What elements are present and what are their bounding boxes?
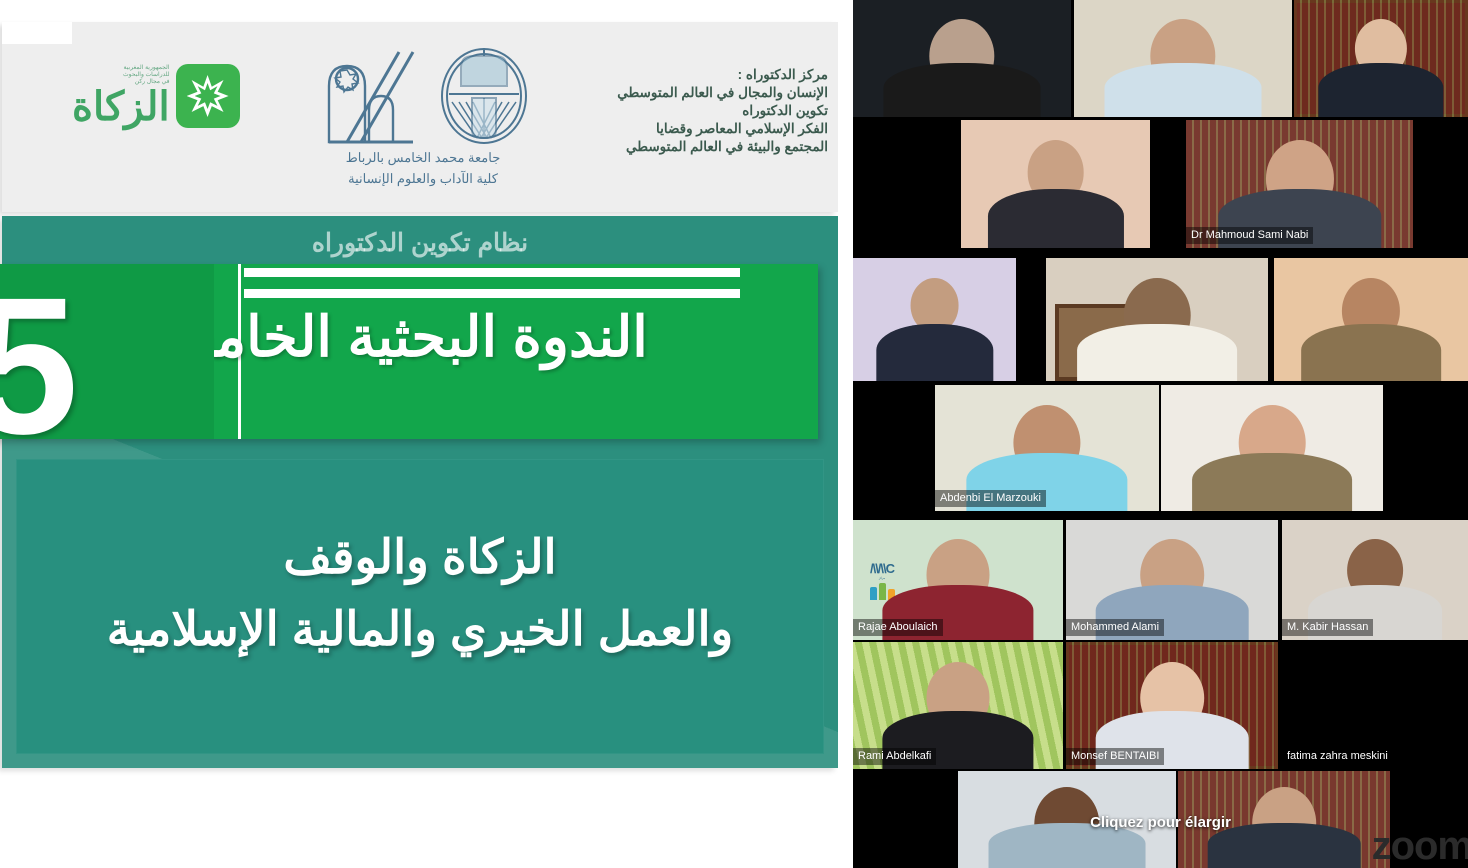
tile-participant-18[interactable]	[1178, 771, 1390, 868]
tile-participant-14[interactable]: Rami Abdelkafi	[853, 642, 1063, 769]
doctorate-info-line-2: الإنسان والمجال في العالم المتوسطي	[583, 84, 828, 102]
zakat-micro-line-1: الجمهورية المغربية	[72, 65, 170, 72]
participant-nameplate: Rami Abdelkafi	[853, 748, 936, 765]
presentation-slide: الجمهورية المغربية للدراسات والبحوث في م…	[0, 4, 838, 864]
participant-video-feed	[1074, 0, 1292, 117]
tile-participant-9[interactable]: Abdenbi El Marzouki	[935, 385, 1159, 511]
participant-video-feed	[961, 120, 1150, 248]
doctorate-info-line-1: مركز الدكتوراه :	[583, 66, 828, 84]
participant-video-feed	[1161, 385, 1383, 511]
zakat-logo: الجمهورية المغربية للدراسات والبحوث في م…	[72, 64, 240, 128]
band-stripe-bottom	[244, 289, 740, 298]
university-logo: جامعة محمد الخامس بالرباط كلية الآداب وا…	[298, 46, 548, 188]
participant-nameplate: M. Kabir Hassan	[1282, 619, 1373, 636]
zakat-micro-line-2: للدراسات والبحوث	[72, 72, 170, 79]
doctorate-info-line-5: المجتمع والبيئة في العالم المتوسطي	[583, 138, 828, 156]
doctorate-info-line-3: تكوين الدكتوراه	[583, 102, 828, 120]
participant-nameplate: Mohammed Alami	[1066, 619, 1164, 636]
zakat-wordmark: الزكاة	[72, 86, 170, 128]
gallery-row-6: Rami AbdelkafiMonsef BENTAIBIfatima zahr…	[853, 642, 1468, 769]
participant-video-feed	[1178, 771, 1390, 868]
doctorate-center-info: مركز الدكتوراه : الإنسان والمجال في العا…	[583, 66, 828, 156]
doctorate-info-line-4: الفكر الإسلامي المعاصر وقضايا	[583, 120, 828, 138]
university-emblem-icon	[298, 46, 548, 146]
tile-participant-4[interactable]	[961, 120, 1150, 248]
tile-participant-7[interactable]	[1046, 258, 1268, 381]
headline-green-band: 5 الندوة البحثية الخامسة	[0, 264, 818, 439]
zoom-watermark: zoom	[1372, 826, 1468, 866]
tile-participant-1[interactable]	[853, 0, 1071, 117]
participant-video-feed	[853, 0, 1071, 117]
subject-line-2: والعمل الخيري والمالية الإسلامية	[22, 593, 818, 665]
gallery-row-5: /\\/\\CمركزRajae AboulaichMohammed Alami…	[853, 520, 1468, 640]
slide-header-band: الجمهورية المغربية للدراسات والبحوث في م…	[2, 22, 838, 212]
tile-participant-15[interactable]: Monsef BENTAIBI	[1066, 642, 1278, 769]
participant-video-feed	[958, 771, 1176, 868]
tile-participant-13[interactable]: M. Kabir Hassan	[1282, 520, 1468, 640]
tile-participant-16[interactable]: fatima zahra meskini	[1282, 642, 1468, 769]
tile-participant-10[interactable]	[1161, 385, 1383, 511]
gallery-row-2: Dr Mahmoud Sami Nabi	[853, 120, 1468, 248]
participant-video-feed	[1294, 0, 1468, 117]
gallery-row-4: Abdenbi El Marzouki	[853, 385, 1468, 511]
zoom-meeting-window: الجمهورية المغربية للدراسات والبحوث في م…	[0, 0, 1468, 868]
header-notch	[2, 22, 72, 44]
eight-point-star-icon	[176, 64, 240, 128]
band-stripe-top	[244, 268, 740, 277]
subject-text: الزكاة والوقف والعمل الخيري والمالية الإ…	[22, 521, 818, 665]
university-caption-line-2: كلية الآداب والعلوم الإنسانية	[298, 169, 548, 188]
tile-participant-12[interactable]: Mohammed Alami	[1066, 520, 1278, 640]
subject-line-1: الزكاة والوقف	[22, 521, 818, 593]
shared-screen-pane[interactable]: الجمهورية المغربية للدراسات والبحوث في م…	[0, 0, 853, 868]
tile-participant-2[interactable]	[1074, 0, 1292, 117]
tile-participant-3[interactable]	[1294, 0, 1468, 117]
participant-nameplate: fatima zahra meskini	[1282, 748, 1393, 765]
participant-nameplate: Dr Mahmoud Sami Nabi	[1186, 227, 1313, 244]
university-caption-line-1: جامعة محمد الخامس بالرباط	[298, 148, 548, 167]
program-line: نظام تكوين الدكتوراه	[2, 228, 838, 258]
edition-number: 5	[0, 286, 78, 446]
tile-participant-6[interactable]	[853, 258, 1016, 381]
participant-video-feed	[853, 258, 1016, 381]
participant-video-feed	[1046, 258, 1268, 381]
participant-nameplate: Monsef BENTAIBI	[1066, 748, 1164, 765]
participant-video-feed	[1274, 258, 1468, 381]
tile-participant-5[interactable]: Dr Mahmoud Sami Nabi	[1186, 120, 1413, 248]
zakat-micro-line-3: في مجال ركن	[72, 79, 170, 86]
slide-body: نظام تكوين الدكتوراه 5 الندوة البحثية ال…	[2, 216, 838, 768]
tile-participant-11[interactable]: /\\/\\CمركزRajae Aboulaich	[853, 520, 1063, 640]
participant-nameplate: Abdenbi El Marzouki	[935, 490, 1046, 507]
tile-participant-8[interactable]	[1274, 258, 1468, 381]
gallery-row-1	[853, 0, 1468, 117]
participant-gallery[interactable]: Dr Mahmoud Sami NabiAbdenbi El Marzouki/…	[853, 0, 1468, 868]
participant-nameplate: Rajae Aboulaich	[853, 619, 943, 636]
gallery-row-3	[853, 258, 1468, 381]
tile-participant-17[interactable]	[958, 771, 1176, 868]
